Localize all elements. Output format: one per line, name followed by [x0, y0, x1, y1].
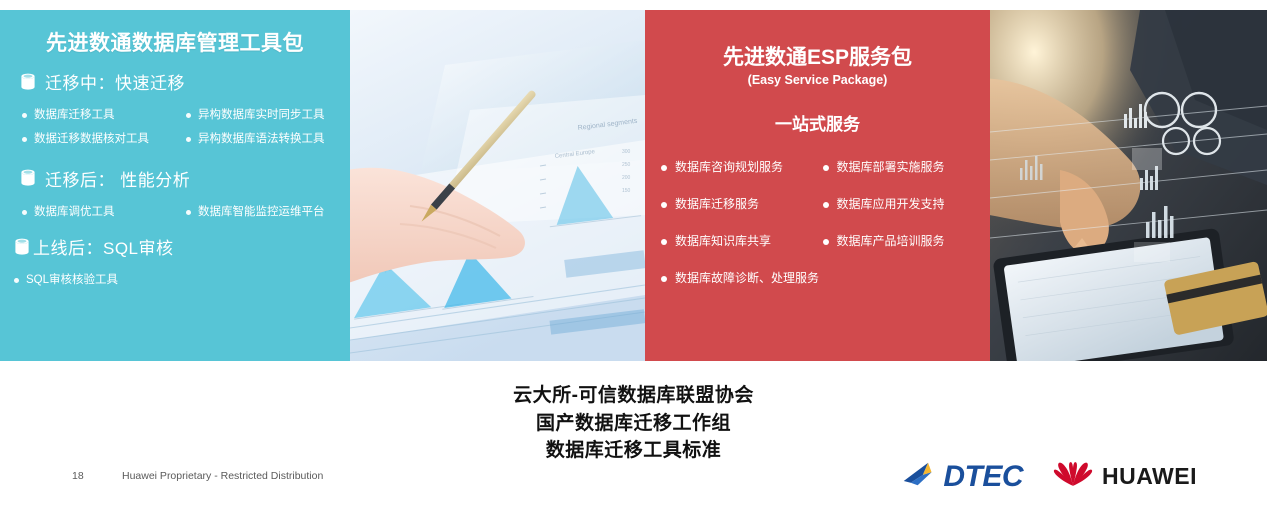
- svg-text:250: 250: [622, 162, 631, 168]
- list-item: 数据库部署实施服务: [821, 149, 983, 186]
- list-item-label: SQL审核核验工具: [26, 273, 118, 287]
- teal-group-heading: 上线后：SQL审核: [33, 234, 174, 259]
- bullet-dot-icon: [186, 137, 191, 142]
- huawei-logo: HUAWEI: [1053, 461, 1197, 492]
- bullet-dot-icon: [823, 165, 829, 171]
- svg-text:150: 150: [622, 188, 631, 194]
- list-item-label: 数据库产品培训服务: [837, 234, 945, 249]
- caption-line-1: 云大所-可信数据库联盟协会: [0, 382, 1267, 410]
- teal-bullet-grid: 数据库调优工具 数据库智能监控运维平台: [20, 200, 350, 224]
- database-toolkit-panel: 先进数通数据库管理工具包 迁移中：快速迁移 数据库迁移工具 异构数据库: [0, 10, 350, 361]
- list-item: 数据库调优工具: [22, 200, 186, 224]
- list-item-label: 数据库迁移工具: [34, 108, 115, 122]
- list-item: 数据库迁移工具: [22, 103, 186, 127]
- list-item: 数据库知识库共享: [659, 223, 821, 260]
- red-panel-subtitle: (Easy Service Package): [645, 73, 990, 87]
- list-item: 数据库应用开发支持: [821, 186, 983, 223]
- list-item: 数据迁移数据核对工具: [22, 127, 186, 151]
- database-icon: [20, 73, 36, 91]
- bullet-dot-icon: [186, 210, 191, 215]
- database-icon: [14, 238, 30, 256]
- list-item-label: 数据库智能监控运维平台: [198, 205, 325, 219]
- proprietary-notice: Huawei Proprietary - Restricted Distribu…: [122, 470, 323, 482]
- list-item-label: 数据库咨询规划服务: [675, 160, 783, 175]
- slide-footer: 18 Huawei Proprietary - Restricted Distr…: [0, 458, 1267, 510]
- bullet-dot-icon: [661, 276, 667, 282]
- bullet-dot-icon: [661, 165, 667, 171]
- svg-text:300: 300: [622, 149, 631, 155]
- teal-group-heading: 迁移中：快速迁移: [45, 69, 185, 94]
- svg-text:200: 200: [622, 175, 631, 181]
- list-item-label: 数据库故障诊断、处理服务: [675, 271, 819, 286]
- caption-line-2: 国产数据库迁移工作组: [0, 410, 1267, 438]
- caption-block: 云大所-可信数据库联盟协会 国产数据库迁移工作组 数据库迁移工具标准: [0, 382, 1267, 465]
- list-item-label: 数据库部署实施服务: [837, 160, 945, 175]
- red-bullet-grid: 数据库咨询规划服务 数据库部署实施服务 数据库迁移服务 数据库应用开发支持 数据…: [645, 149, 990, 297]
- list-item: 数据库咨询规划服务: [659, 149, 821, 186]
- list-item: 数据库故障诊断、处理服务: [659, 260, 982, 297]
- teal-group-heading: 迁移后： 性能分析: [45, 166, 190, 191]
- bullet-dot-icon: [22, 137, 27, 142]
- bullet-dot-icon: [661, 202, 667, 208]
- teal-group-migration: 迁移中：快速迁移 数据库迁移工具 异构数据库实时同步工具 数据迁移数据核对工具 …: [0, 69, 350, 152]
- red-panel-heading: 一站式服务: [645, 110, 990, 135]
- page-number: 18: [72, 470, 84, 482]
- list-item-label: 数据迁移数据核对工具: [34, 132, 149, 146]
- list-item-label: 异构数据库语法转换工具: [198, 132, 325, 146]
- dtec-wordmark: DTEC: [943, 462, 1023, 492]
- list-item: SQL审核核验工具: [14, 268, 182, 292]
- slide-canvas: 先进数通数据库管理工具包 迁移中：快速迁移 数据库迁移工具 异构数据库: [0, 0, 1267, 510]
- database-icon: [20, 169, 36, 187]
- bullet-dot-icon: [14, 278, 19, 283]
- list-item-label: 异构数据库实时同步工具: [198, 108, 325, 122]
- red-panel-title: 先进数通ESP服务包: [645, 10, 990, 70]
- list-item: 数据库迁移服务: [659, 186, 821, 223]
- teal-bullet-grid: SQL审核核验工具: [14, 268, 350, 292]
- list-item-label: 数据库调优工具: [34, 205, 115, 219]
- tablet-photo: [990, 10, 1267, 361]
- bullet-dot-icon: [22, 210, 27, 215]
- dtec-mark-icon: [902, 460, 942, 493]
- teal-bullet-grid: 数据库迁移工具 异构数据库实时同步工具 数据迁移数据核对工具 异构数据库语法转换…: [20, 103, 350, 152]
- bullet-dot-icon: [22, 113, 27, 118]
- bullet-dot-icon: [823, 239, 829, 245]
- logo-group: DTEC HUAWEI: [902, 460, 1197, 493]
- huawei-wordmark: HUAWEI: [1102, 465, 1197, 488]
- bullet-dot-icon: [823, 202, 829, 208]
- teal-group-performance: 迁移后： 性能分析 数据库调优工具 数据库智能监控运维平台: [0, 166, 350, 224]
- bullet-dot-icon: [186, 113, 191, 118]
- list-item: 异构数据库实时同步工具: [186, 103, 350, 127]
- teal-group-heading-row: 上线后：SQL审核: [14, 234, 350, 259]
- teal-group-sql-audit: 上线后：SQL审核 SQL审核核验工具: [0, 234, 350, 292]
- teal-group-heading-row: 迁移中：快速迁移: [20, 69, 350, 94]
- list-item-label: 数据库应用开发支持: [837, 197, 945, 212]
- teal-panel-title: 先进数通数据库管理工具包: [0, 10, 350, 55]
- bullet-dot-icon: [661, 239, 667, 245]
- teal-group-heading-row: 迁移后： 性能分析: [20, 166, 350, 191]
- list-item: 数据库智能监控运维平台: [186, 200, 350, 224]
- list-item-label: 数据库知识库共享: [675, 234, 771, 249]
- list-item: 异构数据库语法转换工具: [186, 127, 350, 151]
- content-band: 先进数通数据库管理工具包 迁移中：快速迁移 数据库迁移工具 异构数据库: [0, 10, 1267, 361]
- huawei-flower-icon: [1053, 461, 1093, 492]
- charts-photo: Regional segments Central Europe 300250 …: [350, 10, 645, 361]
- dtec-logo: DTEC: [902, 460, 1023, 493]
- esp-service-panel: 先进数通ESP服务包 (Easy Service Package) 一站式服务 …: [645, 10, 990, 361]
- list-item: 数据库产品培训服务: [821, 223, 983, 260]
- list-item-label: 数据库迁移服务: [675, 197, 759, 212]
